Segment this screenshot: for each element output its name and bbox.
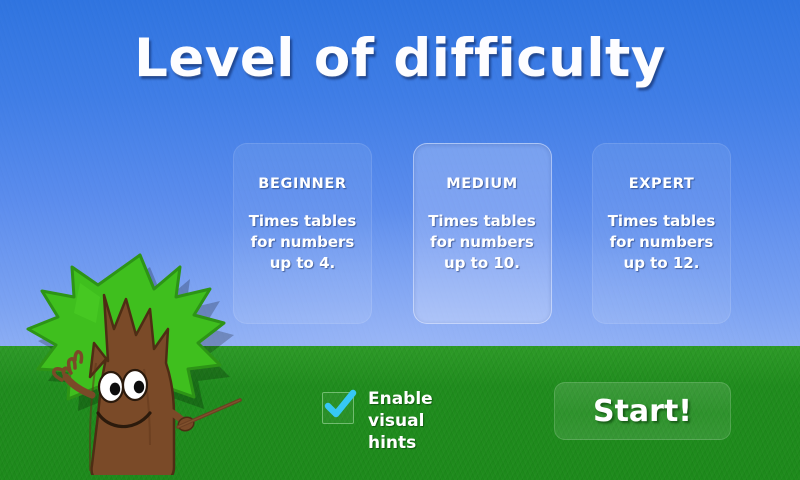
difficulty-card-desc-line: Times tables — [599, 211, 724, 232]
difficulty-card-title: MEDIUM — [414, 176, 551, 192]
difficulty-card-desc-line: up to 12. — [599, 253, 724, 274]
difficulty-card-description: Times tables for numbers up to 12. — [593, 211, 730, 274]
page-title: Level of difficulty — [0, 28, 800, 89]
difficulty-card-title: EXPERT — [593, 176, 730, 192]
visual-hints-label-line: hints — [368, 432, 488, 454]
difficulty-screen: Level of difficulty BEGINNER Times table… — [0, 0, 800, 480]
difficulty-card-medium[interactable]: MEDIUM Times tables for numbers up to 10… — [413, 143, 552, 324]
difficulty-card-description: Times tables for numbers up to 4. — [234, 211, 371, 274]
difficulty-card-desc-line: for numbers — [599, 232, 724, 253]
difficulty-card-title: BEGINNER — [234, 176, 371, 192]
difficulty-card-desc-line: Times tables — [240, 211, 365, 232]
difficulty-card-desc-line: up to 4. — [240, 253, 365, 274]
visual-hints-checkbox[interactable] — [322, 392, 354, 424]
visual-hints-row[interactable]: Enable visual hints — [322, 388, 488, 454]
checkmark-icon — [321, 387, 357, 423]
visual-hints-label: Enable visual hints — [368, 388, 488, 454]
visual-hints-label-line: Enable visual — [368, 388, 488, 432]
tree-mascot — [18, 243, 243, 475]
difficulty-card-beginner[interactable]: BEGINNER Times tables for numbers up to … — [233, 143, 372, 324]
difficulty-card-description: Times tables for numbers up to 10. — [414, 211, 551, 274]
start-button-label: Start! — [593, 394, 692, 429]
difficulty-card-desc-line: Times tables — [420, 211, 545, 232]
start-button[interactable]: Start! — [554, 382, 731, 440]
difficulty-card-desc-line: up to 10. — [420, 253, 545, 274]
difficulty-card-list: BEGINNER Times tables for numbers up to … — [233, 143, 731, 324]
difficulty-card-desc-line: for numbers — [240, 232, 365, 253]
difficulty-card-desc-line: for numbers — [420, 232, 545, 253]
difficulty-card-expert[interactable]: EXPERT Times tables for numbers up to 12… — [592, 143, 731, 324]
